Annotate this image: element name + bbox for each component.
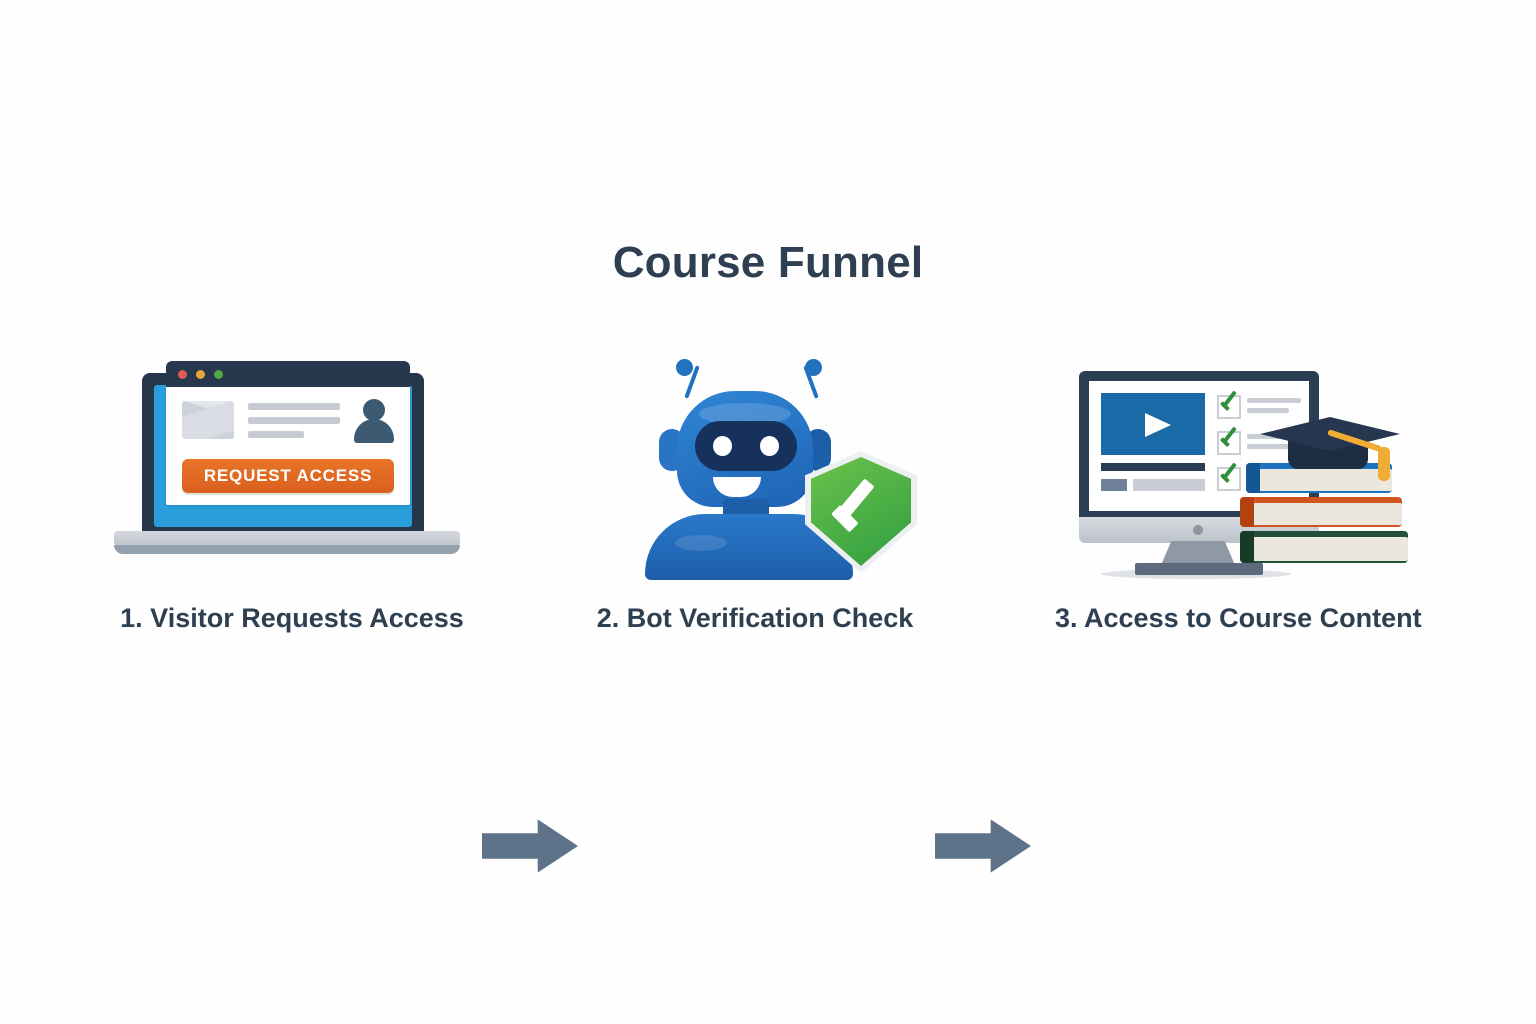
cap-tassel xyxy=(1378,447,1390,481)
check-icon xyxy=(1219,427,1241,447)
window-minimize-dot-icon[interactable] xyxy=(196,370,205,379)
text-line xyxy=(248,403,340,410)
robot-visor xyxy=(695,421,797,471)
person-avatar-icon xyxy=(352,399,396,441)
envelope-icon xyxy=(182,401,234,439)
monitor-power-dot-icon xyxy=(1193,525,1203,535)
check-icon xyxy=(831,491,887,521)
avatar-body xyxy=(354,419,394,443)
checklist-text-line xyxy=(1247,398,1301,403)
request-access-button[interactable]: REQUEST ACCESS xyxy=(182,459,394,493)
video-meta-chip xyxy=(1101,479,1127,491)
step-2-caption: 2. Bot Verification Check xyxy=(575,603,935,634)
laptop-graphic: REQUEST ACCESS xyxy=(112,355,472,580)
course-graphic xyxy=(1065,359,1415,579)
page-title: Course Funnel xyxy=(0,238,1536,288)
funnel-step-2: 2. Bot Verification Check xyxy=(575,355,935,655)
book-blue-spine xyxy=(1246,463,1260,493)
course-content-illustration xyxy=(1055,355,1415,580)
browser-window: REQUEST ACCESS xyxy=(166,361,410,505)
text-line xyxy=(248,431,304,438)
right-arrow-icon xyxy=(935,817,1031,875)
robot-illustration xyxy=(575,355,935,580)
arrow-step1-to-step2-icon xyxy=(482,817,578,875)
form-text-lines xyxy=(248,403,340,445)
graduation-cap-icon xyxy=(1260,407,1400,477)
step-3-caption: 3. Access to Course Content xyxy=(1055,603,1415,634)
check-icon xyxy=(1219,463,1241,483)
window-maximize-dot-icon[interactable] xyxy=(214,370,223,379)
video-thumbnail xyxy=(1101,393,1205,455)
play-icon[interactable] xyxy=(1145,413,1171,437)
laptop-base-lip xyxy=(114,545,460,554)
window-close-dot-icon[interactable] xyxy=(178,370,187,379)
right-arrow-icon xyxy=(482,817,578,875)
robot-eye-right xyxy=(760,436,779,456)
robot-graphic xyxy=(635,359,885,579)
video-progress-bar xyxy=(1101,463,1205,471)
avatar-head xyxy=(363,399,385,421)
book-stack xyxy=(1240,407,1415,579)
antenna-ball-left xyxy=(676,359,693,376)
browser-titlebar xyxy=(166,361,410,387)
funnel-flow: REQUEST ACCESS 1. Visitor Requests Acces… xyxy=(0,355,1536,665)
verified-shield-icon xyxy=(805,451,917,573)
text-line xyxy=(248,417,340,424)
step-1-caption: 1. Visitor Requests Access xyxy=(112,603,472,634)
robot-eye-left xyxy=(713,436,732,456)
arrow-step2-to-step3-icon xyxy=(935,817,1031,875)
check-icon xyxy=(1219,391,1241,411)
laptop-illustration: REQUEST ACCESS xyxy=(112,355,472,580)
video-meta-chip xyxy=(1133,479,1205,491)
book-orange-spine xyxy=(1240,497,1254,527)
book-orange-pages xyxy=(1250,503,1402,525)
monitor-stand xyxy=(1161,541,1235,565)
funnel-step-3: 3. Access to Course Content xyxy=(1055,355,1415,655)
book-green-pages xyxy=(1250,537,1408,561)
book-green-spine xyxy=(1240,531,1254,563)
funnel-step-1: REQUEST ACCESS 1. Visitor Requests Acces… xyxy=(112,355,472,655)
robot-body-highlight xyxy=(675,535,727,551)
diagram-canvas: Course Funnel xyxy=(0,0,1536,1024)
